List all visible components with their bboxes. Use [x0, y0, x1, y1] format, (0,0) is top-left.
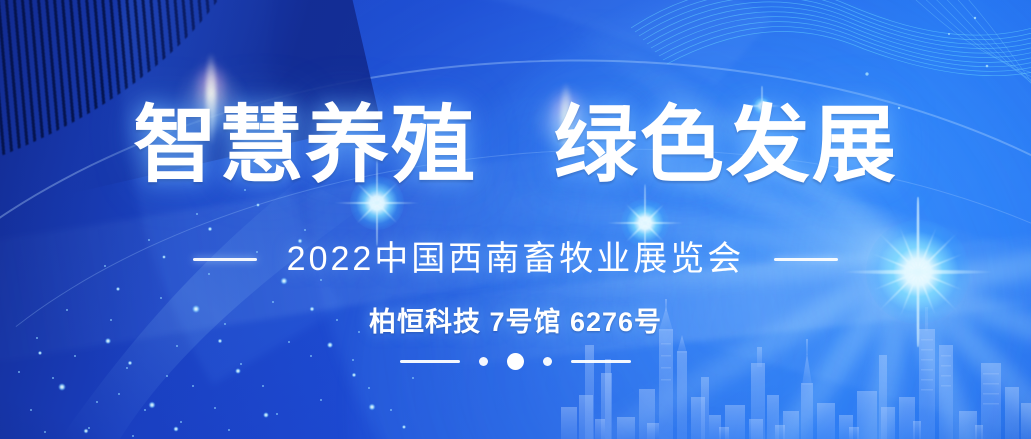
divider-line-left [400, 360, 460, 363]
banner-booth-info: 柏恒科技 7号馆 6276号 [0, 305, 1031, 339]
divider-dot-small-right [543, 357, 552, 366]
banner-divider [0, 353, 1031, 370]
banner-title: 智慧养殖 绿色发展 [0, 99, 1031, 191]
divider-line-right [571, 360, 631, 363]
event-banner: 智慧养殖 绿色发展 2022中国西南畜牧业展览会 柏恒科技 7号馆 6276号 [0, 0, 1031, 439]
dash-left-icon [193, 258, 257, 261]
divider-dot-large [507, 353, 524, 370]
banner-title-part-2: 绿色发展 [554, 98, 898, 192]
dash-right-icon [774, 258, 838, 261]
banner-subtitle-row: 2022中国西南畜牧业展览会 [0, 239, 1031, 279]
divider-dot-small-left [479, 357, 488, 366]
banner-content: 智慧养殖 绿色发展 2022中国西南畜牧业展览会 柏恒科技 7号馆 6276号 [0, 0, 1031, 439]
banner-title-part-1: 智慧养殖 [133, 98, 477, 192]
banner-subtitle: 2022中国西南畜牧业展览会 [287, 239, 745, 279]
